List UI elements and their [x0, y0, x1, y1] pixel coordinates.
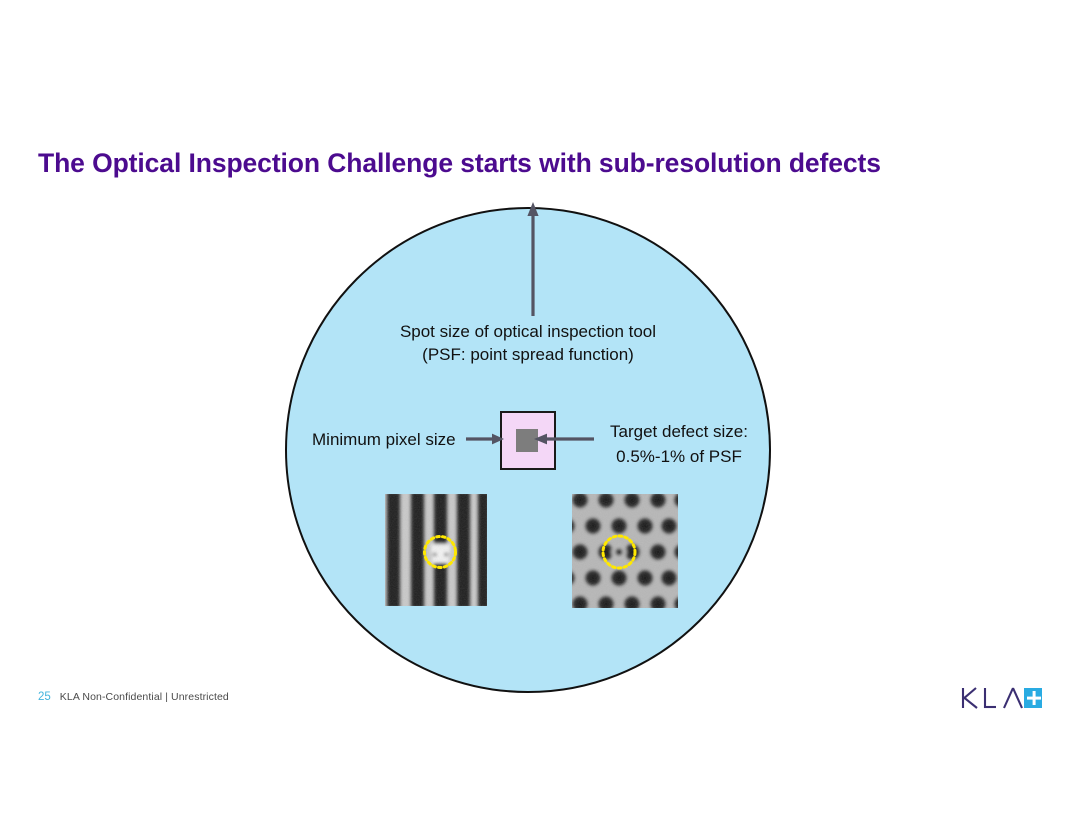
target-defect-line-2: 0.5%-1% of PSF [598, 444, 760, 469]
kla-logo [960, 682, 1042, 714]
line-pattern-defect-image [385, 494, 487, 606]
spot-size-caption-line-1: Spot size of optical inspection tool [300, 320, 756, 343]
minimum-pixel-size-label: Minimum pixel size [312, 430, 456, 450]
target-defect-arrow-icon [534, 432, 594, 446]
footer: 25 KLA Non-Confidential | Unrestricted [38, 691, 229, 703]
contact-array-defect-image [572, 494, 678, 608]
target-defect-size-label: Target defect size: 0.5%-1% of PSF [598, 419, 760, 469]
spot-size-arrow-icon [523, 200, 543, 316]
target-defect-line-1: Target defect size: [598, 419, 760, 444]
minimum-pixel-arrow-icon [466, 432, 504, 446]
spot-size-caption-line-2: (PSF: point spread function) [300, 343, 756, 366]
confidentiality-notice: KLA Non-Confidential | Unrestricted [60, 691, 229, 703]
spot-size-caption: Spot size of optical inspection tool (PS… [300, 320, 756, 366]
page-title: The Optical Inspection Challenge starts … [38, 148, 1018, 179]
slide-number: 25 [38, 691, 51, 703]
